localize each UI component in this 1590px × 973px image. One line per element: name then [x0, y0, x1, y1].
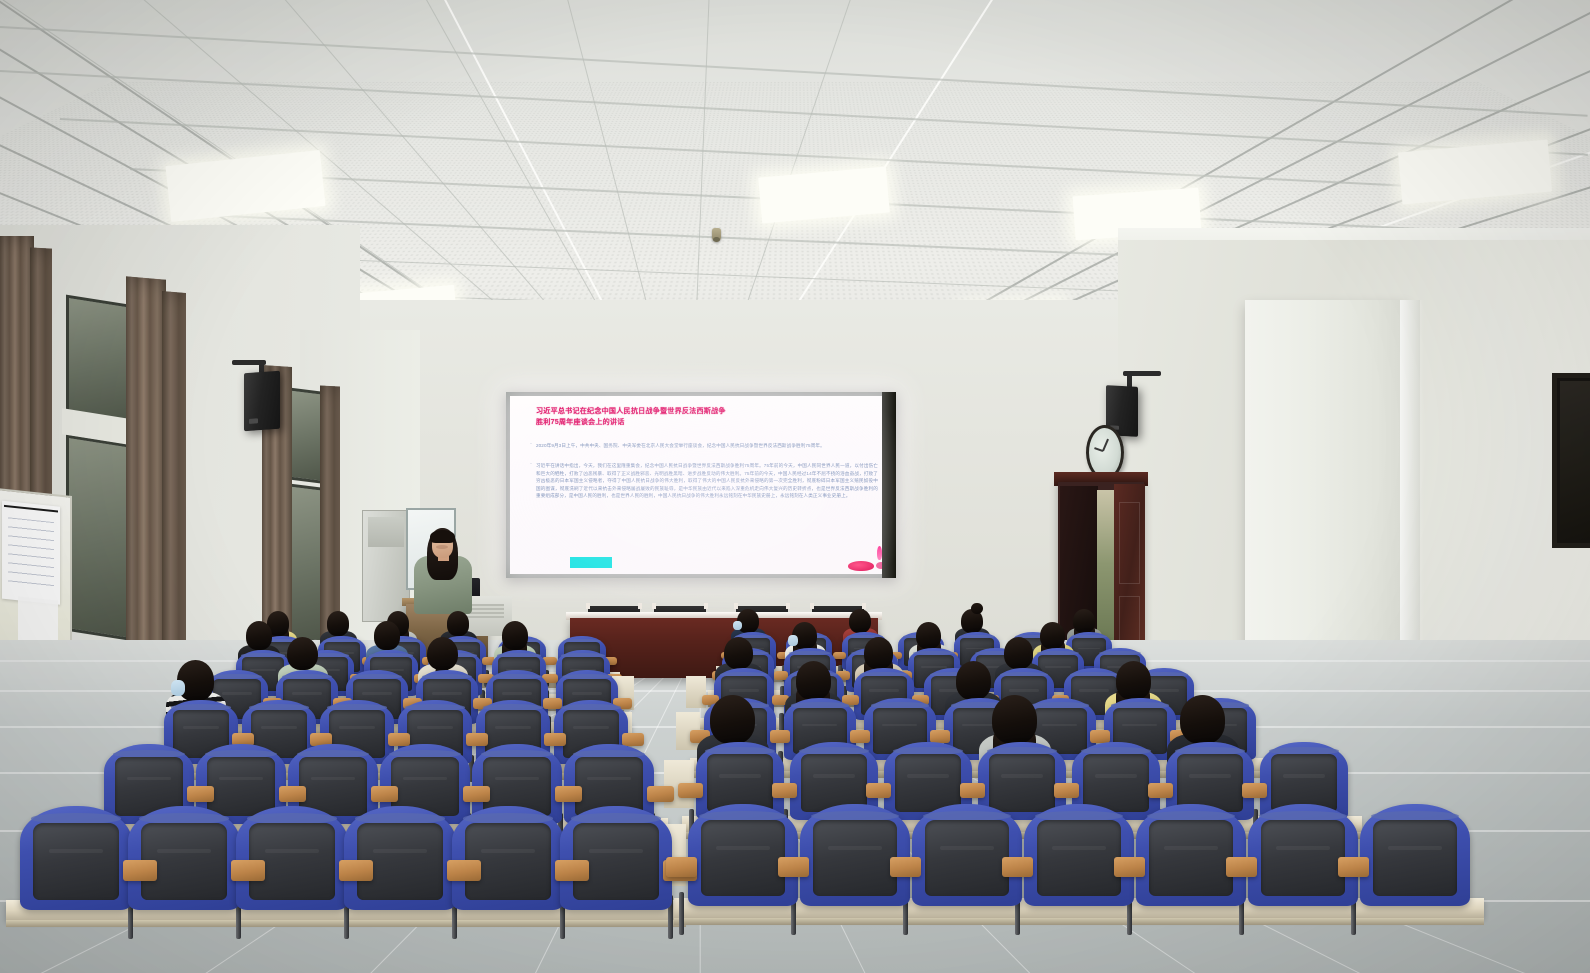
window-1 — [66, 295, 134, 430]
seat-armrest — [890, 857, 921, 877]
seat-armrest — [678, 783, 703, 799]
seat-armrest — [1226, 857, 1257, 877]
screen-right-shadow — [882, 392, 896, 578]
audience-head — [956, 661, 991, 700]
audience-head — [447, 611, 470, 636]
audience-head — [1040, 622, 1065, 650]
seat-armrest — [930, 730, 950, 742]
audience-hair-bun — [971, 603, 982, 614]
notice-paper-lines — [8, 517, 54, 592]
seat-armrest — [850, 730, 870, 742]
audience-head — [427, 637, 458, 671]
seat-cushion — [1373, 820, 1457, 895]
seat-armrest — [1114, 857, 1145, 877]
window-2 — [66, 435, 134, 642]
face-mask-icon — [733, 621, 742, 631]
audience-head — [992, 695, 1037, 744]
auditorium-seat[interactable] — [560, 806, 672, 910]
seat-armrest — [772, 783, 797, 799]
seat-armrest — [447, 860, 481, 881]
seat-armrest — [866, 783, 891, 799]
audience-head — [1073, 609, 1095, 633]
seat-leg — [679, 892, 684, 935]
notice-paper — [2, 501, 60, 605]
presenter-hair-fringe — [430, 530, 455, 543]
audience-head — [1180, 695, 1225, 744]
seat-armrest — [666, 857, 697, 877]
seat-armrest — [778, 857, 809, 877]
wall-picture-frame — [1552, 373, 1590, 548]
seat-cushion — [33, 823, 118, 900]
audience-head — [327, 611, 350, 636]
presenter-face-shadow — [436, 545, 448, 549]
audience-head — [849, 609, 871, 633]
seat-armrest — [231, 860, 265, 881]
face-mask-icon — [788, 635, 798, 646]
audience-head — [796, 661, 831, 700]
auditorium-seat[interactable] — [20, 806, 132, 910]
seat-armrest — [555, 860, 589, 881]
slide-highlight-box — [570, 557, 612, 568]
audience-head — [374, 621, 400, 650]
seat-armrest — [1090, 730, 1110, 742]
audience-head — [710, 695, 755, 744]
slide-bullet-2: 习近平在讲话中指出，今天，我们在这里隆重集会，纪念中国人民抗日战争暨世界反法西斯… — [536, 462, 878, 500]
slide-title: 习近平总书记在纪念中国人民抗日战争暨世界反法西斯战争 胜利75周年座谈会上的讲话 — [536, 406, 876, 427]
seat-cushion — [1149, 820, 1233, 895]
auditorium-seat[interactable] — [912, 804, 1022, 906]
auditorium-seat[interactable] — [1024, 804, 1134, 906]
seat-armrest — [279, 786, 306, 802]
seat-armrest — [647, 786, 674, 802]
seat-cushion — [1261, 820, 1345, 895]
auditorium-seat[interactable] — [1360, 804, 1470, 906]
seat-armrest — [1148, 783, 1173, 799]
auditorium-seat[interactable] — [236, 806, 348, 910]
projection-screen-frame: 习近平总书记在纪念中国人民抗日战争暨世界反法西斯战争 胜利75周年座谈会上的讲话… — [506, 392, 896, 578]
seat-armrest — [770, 730, 790, 742]
seat-armrest — [555, 786, 582, 802]
audience-head — [502, 621, 528, 650]
audience-head — [864, 637, 894, 670]
auditorium-seat[interactable] — [452, 806, 564, 910]
audience-head — [1004, 637, 1034, 670]
auditorium-seat[interactable] — [800, 804, 910, 906]
audience-head — [246, 621, 272, 650]
seat-armrest — [1242, 783, 1267, 799]
projection-screen: 习近平总书记在纪念中国人民抗日战争暨世界反法西斯战争 胜利75周年座谈会上的讲话… — [510, 396, 892, 574]
auditorium-seat[interactable] — [128, 806, 240, 910]
seat-armrest — [1054, 783, 1079, 799]
seat-armrest — [187, 786, 214, 802]
wall-speaker-left — [244, 371, 280, 432]
slide-bullet-1: 2020年9月3日上午，中共中央、国务院、中央军委在北京人民大会堂举行座谈会，纪… — [536, 442, 878, 450]
seat-armrest — [371, 786, 398, 802]
seat-cushion — [701, 820, 785, 895]
audience-head — [287, 637, 318, 671]
face-mask-icon — [171, 680, 186, 696]
auditorium-seat[interactable] — [688, 804, 798, 906]
seat-cushion — [925, 820, 1009, 895]
seat-armrest — [960, 783, 985, 799]
auditorium-seat[interactable] — [1248, 804, 1358, 906]
audience-head — [916, 622, 941, 650]
seat-armrest — [339, 860, 373, 881]
auditorium-seat[interactable] — [1136, 804, 1246, 906]
auditorium-seat[interactable] — [344, 806, 456, 910]
audience-head — [724, 637, 754, 670]
seat-cushion — [813, 820, 897, 895]
audience-head — [1116, 661, 1151, 700]
seat-armrest — [1338, 857, 1369, 877]
sprinkler-head-icon — [712, 228, 721, 242]
seat-armrest — [463, 786, 490, 802]
seat-armrest — [123, 860, 157, 881]
seat-cushion — [1037, 820, 1121, 895]
seat-armrest — [1002, 857, 1033, 877]
lecture-hall-photo: 习近平总书记在纪念中国人民抗日战争暨世界反法西斯战争 胜利75周年座谈会上的讲话… — [0, 0, 1590, 973]
